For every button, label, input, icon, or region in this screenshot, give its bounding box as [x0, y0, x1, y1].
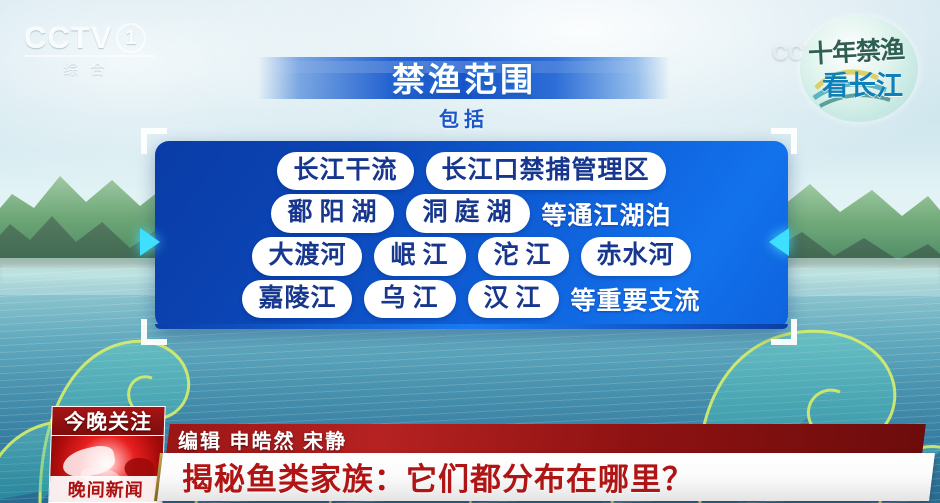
list-item[interactable]: 长江口禁捕管理区	[426, 152, 666, 191]
cctv-channel-subtitle: 综合	[24, 58, 156, 79]
page-title: 禁渔范围	[258, 54, 670, 100]
list-item[interactable]: 乌江	[364, 280, 455, 319]
list-item[interactable]: 岷江	[374, 237, 465, 276]
page-subtitle: 包括	[258, 103, 670, 132]
corner-bracket-top-left	[141, 128, 167, 154]
panel-row: 鄱阳湖 洞庭湖 等通江湖泊	[169, 194, 774, 234]
panel-row: 嘉陵江 乌江 汉江 等重要支流	[169, 279, 774, 319]
list-item[interactable]: 沱江	[478, 237, 569, 276]
list-item[interactable]: 赤水河	[581, 237, 691, 276]
cctv-channel-logo: CCTV 1 综合	[24, 22, 156, 84]
row-trailing-text: 等重要支流	[571, 281, 701, 317]
content-panel: 长江干流 长江口禁捕管理区 鄱阳湖 洞庭湖 等通江湖泊 大渡河 岷江 沱江 赤水…	[155, 141, 788, 329]
broadcast-screen: CCTV 1 综合 CCTV 十年禁渔 看长江 禁渔范围 包括 长江干流 长江口…	[0, 0, 940, 503]
list-item[interactable]: 嘉陵江	[242, 280, 352, 319]
arrow-left-icon	[769, 228, 789, 256]
panel-row: 大渡河 岷江 沱江 赤水河	[169, 236, 774, 276]
cctv-logo-text: CCTV	[24, 22, 112, 53]
badge-bottom-label: 晚间新闻	[49, 476, 162, 502]
corner-bracket-top-right	[771, 128, 797, 154]
headline-text: 揭秘鱼类家族：它们都分布在哪里？	[182, 452, 694, 500]
list-item[interactable]: 大渡河	[252, 237, 362, 276]
cctv-logo-rule	[24, 55, 156, 57]
arrow-right-icon	[140, 228, 160, 256]
list-item[interactable]: 汉江	[468, 280, 559, 319]
cctv-channel-number: 1	[116, 23, 146, 53]
list-item[interactable]: 鄱阳湖	[271, 194, 394, 233]
list-item[interactable]: 长江干流	[277, 152, 413, 191]
program-logo-line2: 看长江	[822, 64, 903, 103]
list-item[interactable]: 洞庭湖	[406, 194, 529, 233]
credit-text: 编辑 申皓然 宋静	[178, 425, 347, 453]
panel-row: 长江干流 长江口禁捕管理区	[169, 151, 774, 191]
corner-bracket-bottom-right	[771, 319, 797, 345]
corner-bracket-bottom-left	[141, 319, 167, 345]
news-program-badge: 今晚关注 晚间新闻	[48, 406, 165, 503]
globe-icon: 晚间新闻	[48, 436, 164, 503]
program-logo: 十年禁渔 看长江	[800, 16, 918, 122]
row-trailing-text: 等通江湖泊	[542, 196, 672, 232]
badge-top-label: 今晚关注	[51, 406, 166, 436]
